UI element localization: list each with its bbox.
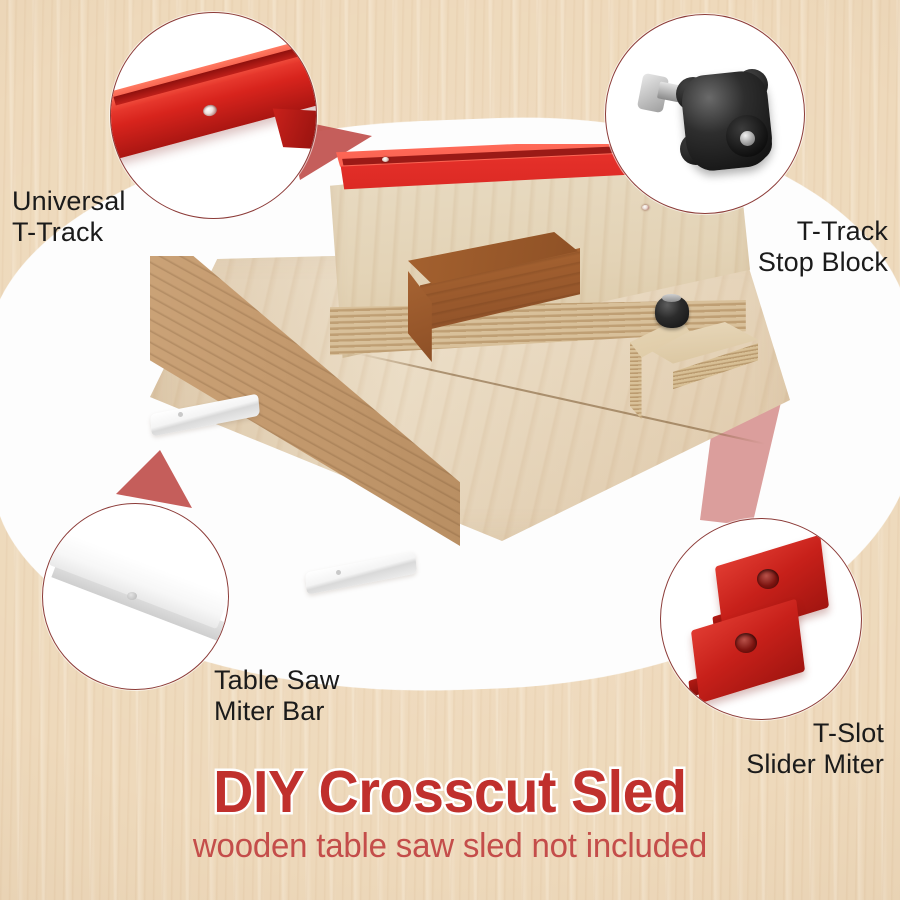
product-infographic: Universal T-Track T-Track Stop Block Tab… (0, 0, 900, 900)
callout-table-saw-miter-bar (42, 503, 229, 690)
label-table-saw-miter-bar: Table Saw Miter Bar (214, 665, 339, 728)
callout-t-track-stop-block (605, 14, 805, 214)
pointer-triangle-miter-bar (116, 450, 192, 508)
page-title: DIY Crosscut Sled (27, 758, 873, 826)
knob-center-screw (740, 131, 755, 146)
callout-universal-t-track (110, 12, 317, 219)
miter-bar-screw-hole (127, 592, 137, 600)
callout-t-slot-slider-miter (660, 518, 862, 720)
t-slot-nut-threaded-hole (735, 633, 757, 653)
t-slot-nut-threaded-hole (757, 569, 779, 589)
pointer-triangle-t-slot (700, 382, 782, 526)
label-universal-t-track: Universal T-Track (12, 186, 125, 249)
page-subtitle: wooden table saw sled not included (14, 827, 887, 866)
label-t-track-stop-block: T-Track Stop Block (758, 216, 888, 279)
t-track-extrusion-end (273, 109, 317, 150)
